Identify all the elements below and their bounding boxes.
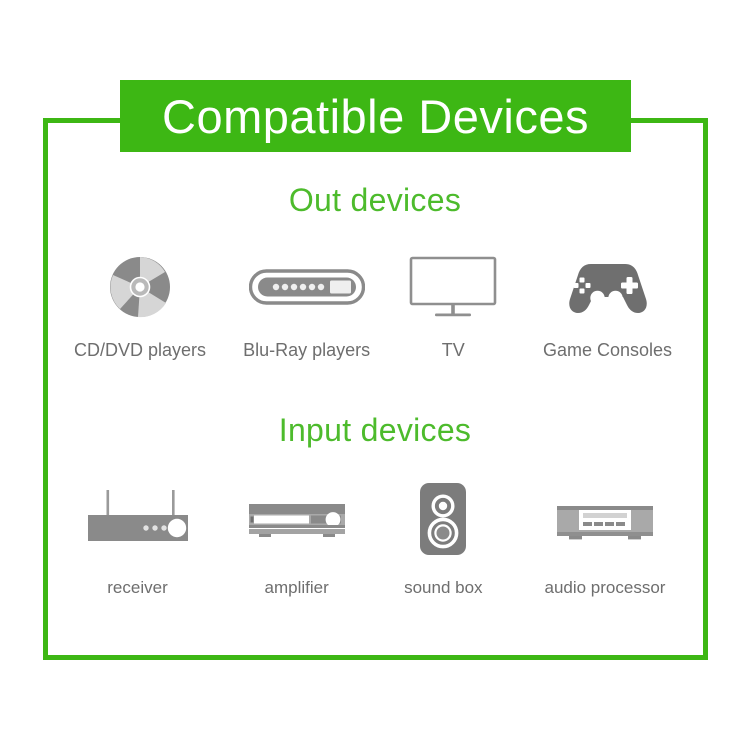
cd-dvd-disc-icon	[108, 248, 172, 326]
device-blu-ray-players: Blu-Ray players	[232, 248, 382, 361]
av-receiver-icon	[80, 480, 196, 558]
device-label: receiver	[107, 578, 167, 598]
device-label: TV	[442, 340, 465, 361]
compatible-devices-infographic: Compatible Devices Out devices CD/DVD pl…	[0, 0, 750, 750]
device-label: amplifier	[265, 578, 329, 598]
device-label: Blu-Ray players	[243, 340, 370, 361]
device-audio-processor: audio processor	[520, 480, 690, 598]
device-amplifier: amplifier	[227, 480, 367, 598]
device-label: Game Consoles	[543, 340, 672, 361]
section-heading-out-devices: Out devices	[0, 182, 750, 219]
device-game-consoles: Game Consoles	[525, 248, 690, 361]
device-cd-dvd-players: CD/DVD players	[60, 248, 220, 361]
device-label: audio processor	[544, 578, 665, 598]
device-label: sound box	[404, 578, 482, 598]
section-heading-input-devices: Input devices	[0, 412, 750, 449]
audio-processor-icon	[553, 480, 657, 558]
game-controller-icon	[559, 248, 655, 326]
blu-ray-player-icon	[249, 248, 365, 326]
amplifier-icon	[245, 480, 349, 558]
device-receiver: receiver	[60, 480, 215, 598]
tv-monitor-icon	[409, 248, 497, 326]
page-title: Compatible Devices	[162, 93, 589, 140]
speaker-icon	[416, 480, 470, 558]
title-banner: Compatible Devices	[120, 80, 631, 152]
device-sound-box: sound box	[378, 480, 508, 598]
device-label: CD/DVD players	[74, 340, 206, 361]
out-devices-row: CD/DVD players Blu-Ray players	[60, 248, 690, 361]
device-tv: TV	[393, 248, 513, 361]
input-devices-row: receiver amplifier	[60, 480, 690, 598]
